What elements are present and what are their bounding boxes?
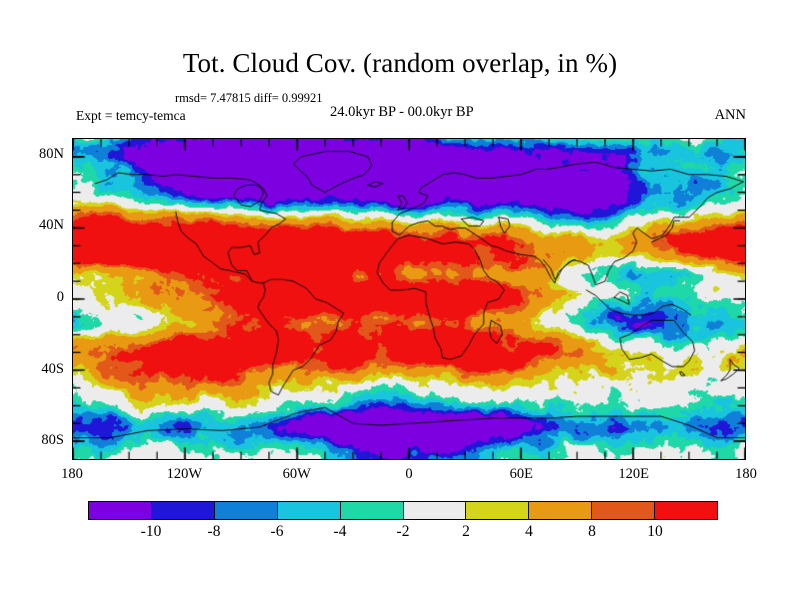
colorbar-tick-label: -4 xyxy=(334,523,347,541)
colorbar-tick-label: -6 xyxy=(271,523,284,541)
lon-tick-label: 60E xyxy=(510,466,533,483)
lon-tick-label: 180 xyxy=(735,466,757,483)
lat-tick-label: 80N xyxy=(6,146,64,163)
lon-tick-label: 180 xyxy=(61,466,83,483)
colorbar-tick-label: 10 xyxy=(647,523,663,541)
statistics-annotation: rmsd= 7.47815 diff= 0.99921 xyxy=(175,91,323,106)
colorbar-segment xyxy=(340,502,403,519)
lon-tick-label: 0 xyxy=(405,466,412,483)
time-period-label: 24.0kyr BP - 00.0kyr BP xyxy=(330,104,474,121)
lat-tick-label: 40S xyxy=(6,361,64,378)
colorbar-segment xyxy=(654,502,717,519)
lat-tick-label: 80S xyxy=(6,432,64,449)
colorbar-tick-label: 4 xyxy=(525,523,533,541)
colorbar-tick-label: -10 xyxy=(141,523,162,541)
colorbar-segment xyxy=(465,502,528,519)
lon-tick-label: 60W xyxy=(283,466,311,483)
colorbar-tick-label: 2 xyxy=(462,523,470,541)
map-plot-area xyxy=(72,138,746,460)
lon-tick-label: 120E xyxy=(618,466,649,483)
colorbar xyxy=(88,501,718,520)
colorbar-tick-label: 8 xyxy=(588,523,596,541)
lon-tick-label: 120W xyxy=(167,466,202,483)
colorbar-segment xyxy=(214,502,277,519)
colorbar-segment xyxy=(403,502,466,519)
colorbar-segment xyxy=(89,502,151,519)
colorbar-segment xyxy=(277,502,340,519)
page-title: Tot. Cloud Cov. (random overlap, in %) xyxy=(0,48,800,79)
lat-tick-label: 0 xyxy=(6,289,64,306)
anomaly-field-canvas xyxy=(73,139,745,459)
colorbar-segment xyxy=(528,502,591,519)
colorbar-tick-label: -8 xyxy=(208,523,221,541)
colorbar-tick-label: -2 xyxy=(397,523,410,541)
lat-tick-label: 40N xyxy=(6,217,64,234)
colorbar-segment xyxy=(591,502,654,519)
experiment-label: Expt = temcy-temca xyxy=(76,108,186,124)
climate-anomaly-figure: Tot. Cloud Cov. (random overlap, in %) r… xyxy=(0,0,800,600)
colorbar-segment xyxy=(151,502,214,519)
season-label: ANN xyxy=(715,107,746,124)
